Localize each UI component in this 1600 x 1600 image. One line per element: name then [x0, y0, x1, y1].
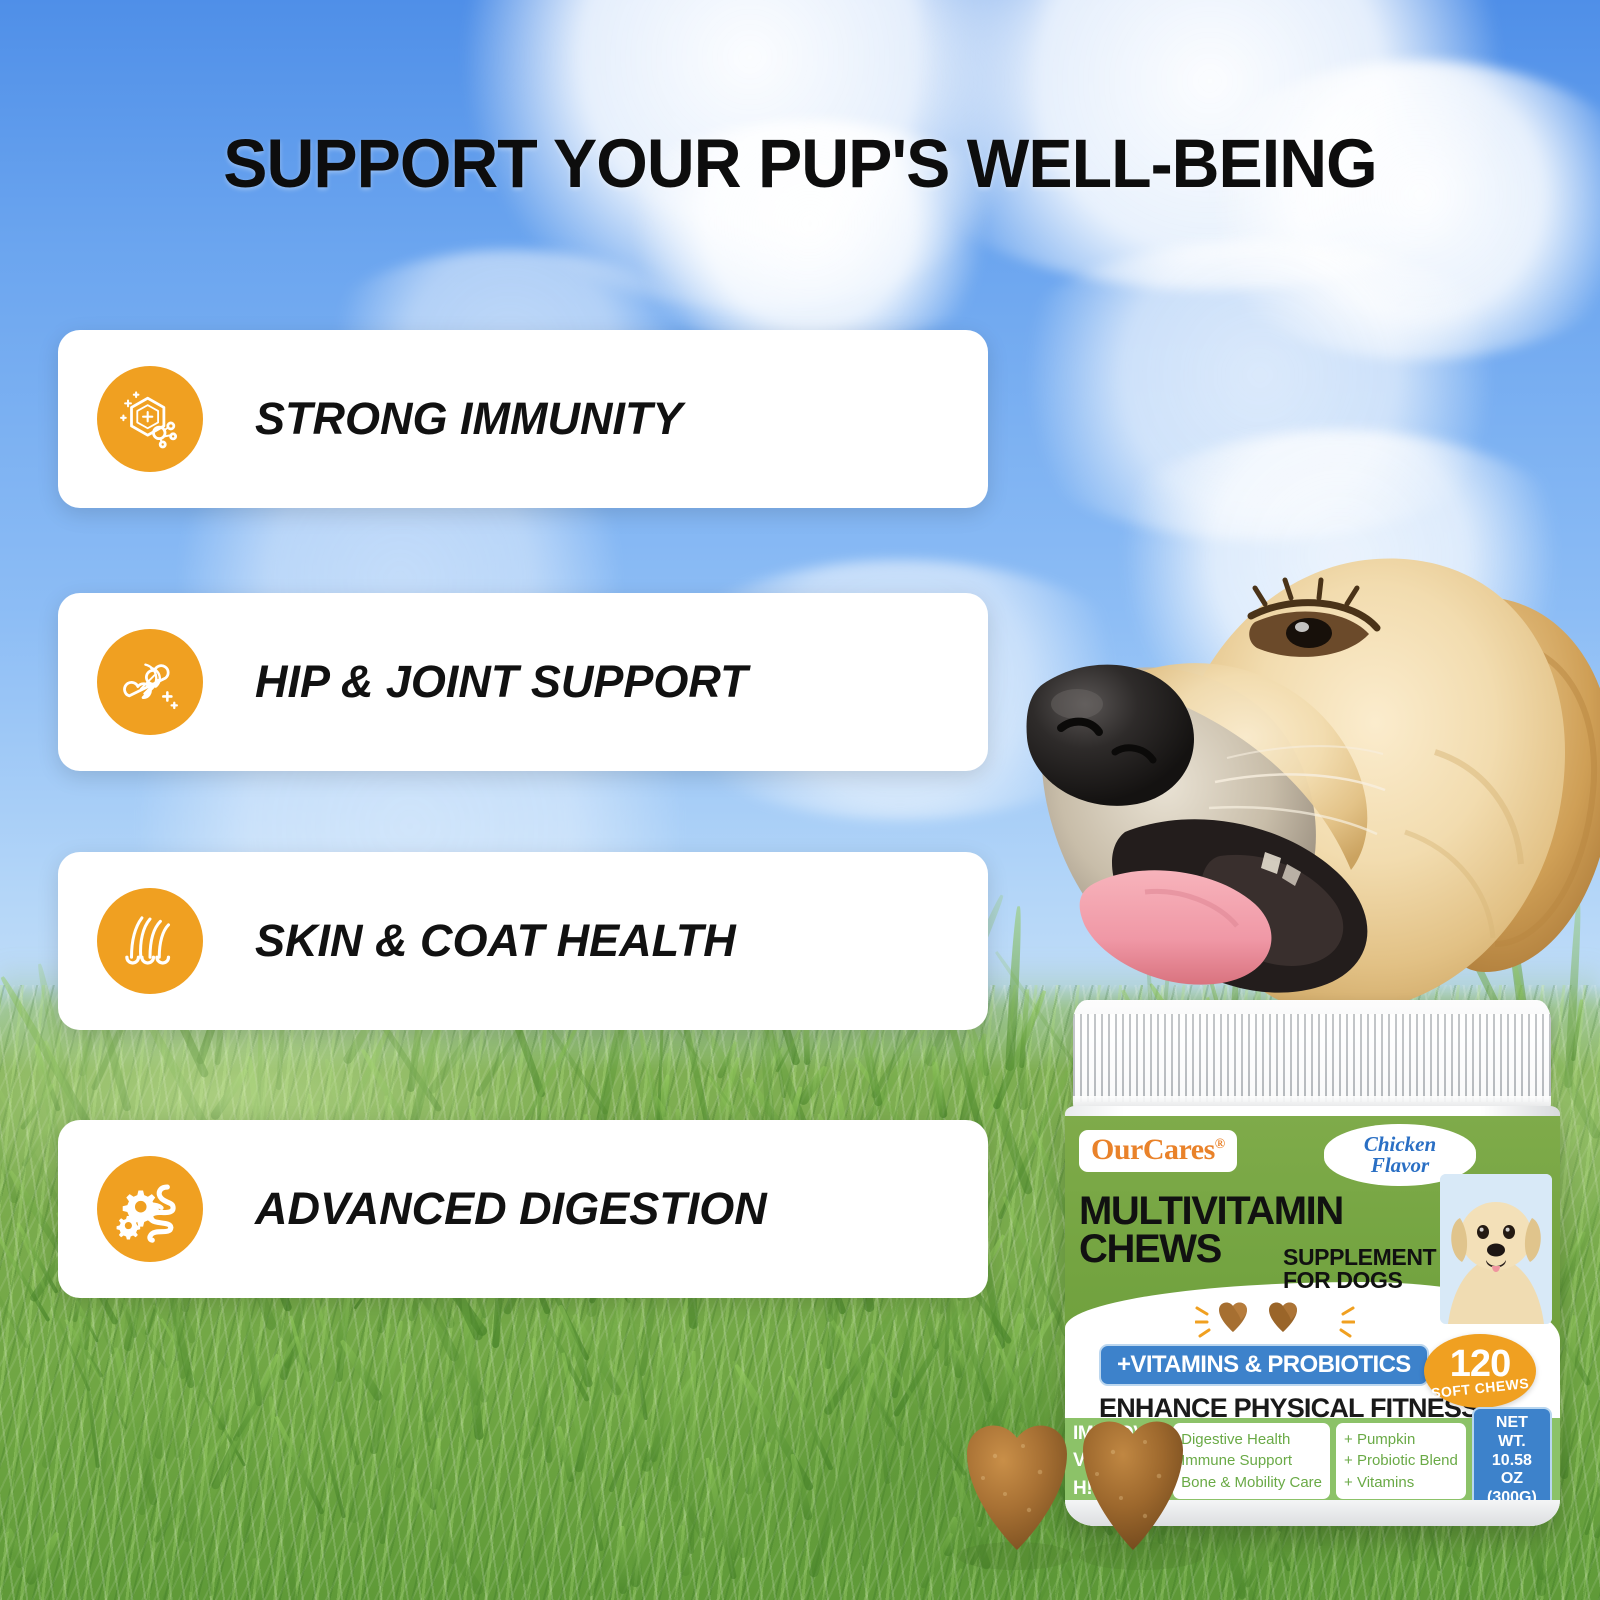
grass-blade [25, 1531, 62, 1587]
grass-blade [1553, 1097, 1600, 1314]
feature-label: STRONG IMMUNITY [255, 393, 682, 445]
grass-blade [396, 1382, 453, 1470]
grass-blade [536, 1022, 547, 1130]
grass-blade [408, 1485, 485, 1597]
net-weight-badge: NET WT. 10.58 OZ (300G) [1472, 1407, 1552, 1515]
feature-label: SKIN & COAT HEALTH [255, 915, 736, 967]
grass-blade [519, 1403, 598, 1586]
grass-blade [16, 1222, 59, 1294]
feature-card-skin-coat-health[interactable]: SKIN & COAT HEALTH [58, 852, 988, 1030]
grass-blade [5, 1528, 24, 1570]
grass-blade [808, 1372, 877, 1579]
grass-blade [138, 1325, 179, 1515]
grass-blade [661, 1052, 671, 1116]
feature-card-strong-immunity[interactable]: STRONG IMMUNITY [58, 330, 988, 508]
grass-blade [796, 1063, 829, 1106]
grass-blade [75, 1300, 99, 1342]
grass-blade [688, 1351, 697, 1554]
grass-blade [289, 1316, 346, 1519]
jar-cap [1073, 1000, 1551, 1118]
grass-blade [704, 1457, 737, 1579]
grass-blade [950, 1290, 993, 1403]
grass-blade [19, 1082, 54, 1130]
grass-blade [571, 1313, 623, 1397]
grass-blade [674, 1326, 697, 1485]
grass-blade [1584, 1381, 1600, 1536]
grass-blade [560, 1353, 603, 1552]
grass-blade [0, 1068, 19, 1205]
product-title-line-1: MULTIVITAMIN [1079, 1192, 1419, 1230]
grass-blade [819, 1344, 865, 1566]
grass-blade [945, 1328, 963, 1378]
grass-blade [369, 1320, 405, 1455]
hair-follicle-icon [97, 888, 203, 994]
grass-blade [284, 1304, 330, 1369]
grass-blade [1594, 1481, 1600, 1539]
grass-blade [20, 1121, 53, 1168]
grass-blade [788, 1453, 813, 1521]
grass-blade [33, 1045, 60, 1112]
grass-blade [251, 1558, 263, 1600]
grass-blade [870, 1344, 891, 1485]
grass-blade [716, 1041, 739, 1080]
grass-blade [1243, 1529, 1282, 1588]
grass-blade [522, 1271, 612, 1461]
grass-blade [337, 1424, 359, 1524]
grass-blade [0, 1212, 29, 1348]
chew-count-badge: 120 SOFT CHEWS [1424, 1334, 1536, 1408]
grass-blade [715, 1466, 737, 1560]
grass-blade [379, 1389, 439, 1520]
grass-blade [337, 1338, 383, 1402]
grass-blade [64, 1318, 104, 1378]
grass-blade [608, 1280, 697, 1492]
grass-blade [217, 1388, 234, 1431]
grass-blade [424, 1290, 466, 1452]
grass-blade [677, 1525, 690, 1577]
supplement-line-1: SUPPLEMENT [1283, 1246, 1436, 1269]
label-dog-photo [1440, 1174, 1552, 1324]
grass-blade [203, 1445, 213, 1597]
bone-sparkle-icon [97, 629, 203, 735]
grass-blade [630, 1520, 647, 1587]
flavor-line-2: Flavor [1371, 1155, 1429, 1176]
grass-blade [1001, 1260, 1040, 1331]
grass-blade [188, 1396, 221, 1593]
grass-blade [1022, 1308, 1030, 1352]
grass-blade [315, 1299, 360, 1465]
grass-blade [153, 1427, 232, 1544]
poster-canvas: SUPPORT YOUR PUP'S WELL-BEING STRONG IMM… [0, 0, 1600, 1600]
grass-blade [411, 1294, 489, 1404]
registered-mark: ® [1215, 1137, 1225, 1152]
grass-blade [1560, 1315, 1578, 1479]
ingredient-item: + Pumpkin [1344, 1429, 1458, 1450]
grass-blade [731, 1360, 772, 1484]
grass-blade [154, 1360, 182, 1460]
grass-blade [556, 1426, 574, 1483]
chew-count-unit: SOFT CHEWS [1430, 1377, 1529, 1400]
grass-blade [112, 1347, 158, 1506]
grass-blade [556, 1303, 593, 1387]
grass-blade [209, 1067, 251, 1122]
grass-blade [650, 1342, 677, 1462]
grass-blade [0, 1231, 51, 1323]
grass-blade [371, 1323, 392, 1410]
grass-blade [462, 1405, 478, 1460]
grass-blade [379, 1363, 407, 1544]
net-weight-line-1: NET WT. [1483, 1414, 1541, 1452]
grass-blade [232, 1335, 299, 1442]
brand-name: OurCares [1091, 1133, 1215, 1166]
grass-blade [835, 1325, 905, 1447]
grass-blade [5, 1322, 37, 1532]
shield-molecule-icon [97, 366, 203, 472]
gears-intestine-icon [97, 1156, 203, 1262]
grass-blade [619, 1526, 628, 1594]
ingredient-item: + Vitamins [1344, 1472, 1458, 1493]
ingredient-item: + Probiotic Blend [1344, 1450, 1458, 1471]
vitamins-probiotics-badge: +VITAMINS & PROBIOTICS [1099, 1344, 1429, 1386]
grass-blade [152, 1305, 246, 1467]
net-weight-line-2: 10.58 OZ [1483, 1452, 1541, 1490]
ingredients-box: + Pumpkin + Probiotic Blend + Vitamins [1336, 1423, 1466, 1499]
foreground-chews [945, 1398, 1235, 1598]
grass-blade [86, 1288, 115, 1354]
grass-blade [267, 1396, 298, 1600]
flavor-line-1: Chicken [1364, 1134, 1436, 1155]
grass-blade [786, 1375, 833, 1471]
grass-blade [114, 1290, 168, 1369]
feature-label: ADVANCED DIGESTION [255, 1183, 767, 1235]
grass-blade [671, 1348, 678, 1502]
dog-photo [965, 452, 1600, 1092]
grass-blade [931, 1061, 949, 1119]
grass-blade [732, 1363, 814, 1492]
grass-blade [587, 1492, 645, 1597]
grass-blade [826, 1313, 893, 1428]
grass-blade [430, 1438, 442, 1511]
grass-blade [640, 1375, 697, 1474]
page-title: SUPPORT YOUR PUP'S WELL-BEING [32, 124, 1568, 203]
grass-blade [299, 1433, 325, 1532]
feature-label: HIP & JOINT SUPPORT [255, 656, 748, 708]
grass-blade [182, 1402, 211, 1543]
supplement-line-2: FOR DOGS [1283, 1269, 1436, 1292]
feature-card-hip-joint-support[interactable]: HIP & JOINT SUPPORT [58, 593, 988, 771]
grass-blade [88, 1359, 128, 1430]
grass-blade [161, 1436, 241, 1600]
grass-blade [210, 1352, 281, 1490]
grass-blade [431, 1488, 457, 1565]
grass-blade [738, 1453, 762, 1559]
grass-blade [1002, 1195, 1071, 1337]
grass-blade [41, 1315, 84, 1469]
feature-card-advanced-digestion[interactable]: ADVANCED DIGESTION [58, 1120, 988, 1298]
grass-blade [606, 1359, 706, 1539]
grass-blade [274, 1415, 325, 1515]
grass-blade [744, 1441, 772, 1496]
grass-blade [620, 1392, 653, 1463]
grass-blade [459, 1287, 484, 1441]
grass-blade [530, 1338, 553, 1464]
grass-blade [243, 1343, 260, 1543]
brand-logo: OurCares® [1079, 1130, 1237, 1172]
grass-blade [169, 1399, 181, 1459]
supplement-subtitle: SUPPLEMENT FOR DOGS [1283, 1246, 1436, 1292]
chew-illustration [1195, 1294, 1355, 1350]
grass-blade [97, 1304, 128, 1496]
